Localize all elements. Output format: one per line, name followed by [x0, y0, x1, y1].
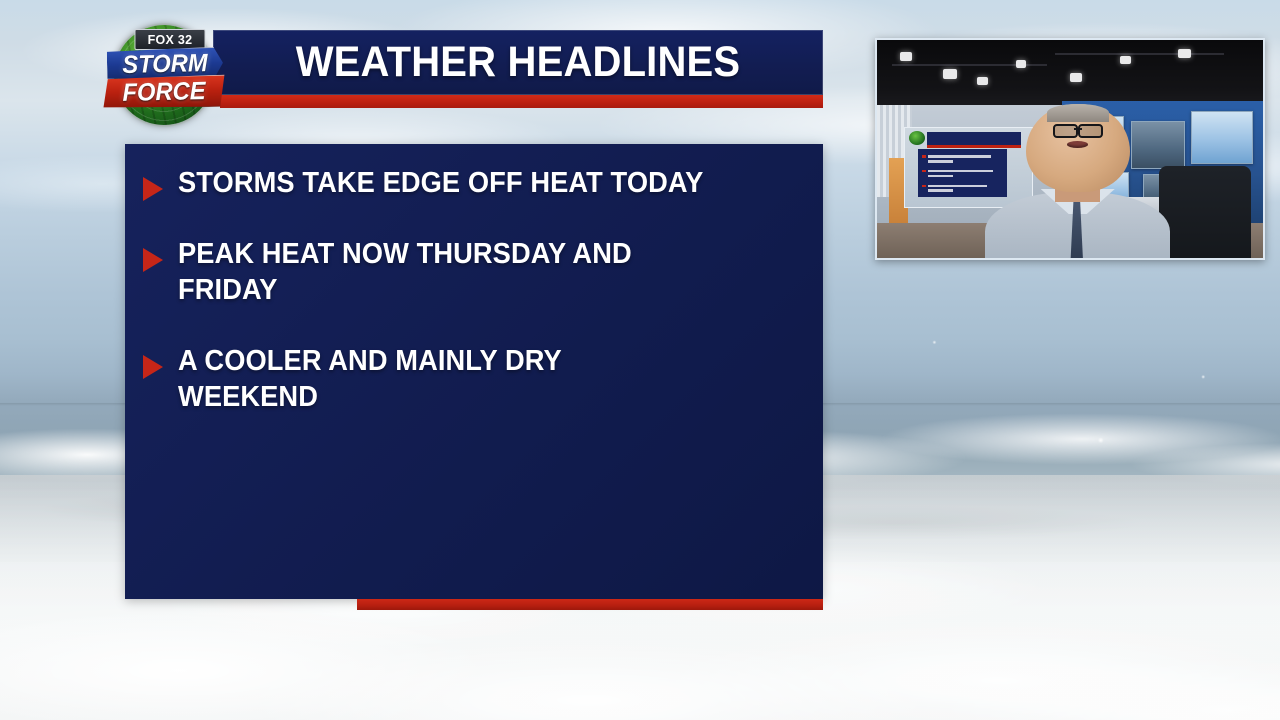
- fox32-network-label: FOX 32: [134, 29, 205, 50]
- headline-text: PEAK HEAT NOW THURSDAY AND FRIDAY: [178, 237, 704, 308]
- glasses-lens-left: [1053, 124, 1078, 138]
- studio-light-icon: [1016, 60, 1026, 68]
- studio-screen-line: [928, 189, 953, 191]
- studio-light-icon: [1178, 49, 1191, 58]
- headline-text: A COOLER AND MAINLY DRY WEEKEND: [178, 344, 704, 415]
- headline-text: STORMS TAKE EDGE OFF HEAT TODAY: [178, 166, 703, 201]
- triangle-bullet-icon: [143, 177, 163, 201]
- headlines-panel: STORMS TAKE EDGE OFF HEAT TODAY PEAK HEA…: [125, 144, 823, 599]
- studio-screen-line: [928, 185, 987, 187]
- studio-screen-bullet-icon: [922, 170, 926, 172]
- glasses-lens-right: [1078, 124, 1103, 138]
- studio-light-icon: [977, 77, 988, 85]
- headlines-list: STORMS TAKE EDGE OFF HEAT TODAY PEAK HEA…: [125, 144, 823, 451]
- anchor-hair: [1047, 104, 1109, 122]
- triangle-bullet-icon: [143, 355, 163, 379]
- meteorologist-figure: [985, 101, 1170, 258]
- anchor-head: [1026, 104, 1130, 192]
- studio-light-icon: [1070, 73, 1082, 82]
- eyeglasses-icon: [1053, 124, 1103, 134]
- studio-chair: [1159, 166, 1252, 258]
- header-accent-bar: [220, 95, 823, 108]
- list-item: A COOLER AND MAINLY DRY WEEKEND: [143, 344, 797, 415]
- logo-force-banner: FORCE: [103, 75, 225, 110]
- weather-broadcast-screen: FOX 32 STORM FORCE WEATHER HEADLINES STO…: [0, 0, 1280, 720]
- studio-light-icon: [900, 52, 912, 61]
- panel-accent-bar: [357, 599, 823, 610]
- studio-screen-bullet-icon: [922, 185, 926, 187]
- studio-screen-line: [928, 170, 992, 172]
- header-bar: WEATHER HEADLINES: [213, 30, 823, 95]
- studio-screen-logo-icon: [909, 131, 926, 145]
- list-item: PEAK HEAT NOW THURSDAY AND FRIDAY: [143, 237, 797, 308]
- page-title: WEATHER HEADLINES: [296, 38, 741, 87]
- studio-screen-line: [928, 155, 990, 157]
- studio-screen-line: [928, 175, 953, 177]
- ceiling-rail: [1055, 53, 1225, 55]
- studio-screen-bullet-icon: [922, 155, 926, 157]
- studio-light-icon: [943, 69, 957, 79]
- anchor-mouth: [1067, 141, 1088, 148]
- meteorologist-video-inset: [875, 38, 1265, 260]
- studio-screen-line: [928, 160, 953, 162]
- triangle-bullet-icon: [143, 248, 163, 272]
- studio-light-icon: [1120, 56, 1131, 64]
- list-item: STORMS TAKE EDGE OFF HEAT TODAY: [143, 166, 797, 201]
- wall-monitor: [1191, 111, 1253, 164]
